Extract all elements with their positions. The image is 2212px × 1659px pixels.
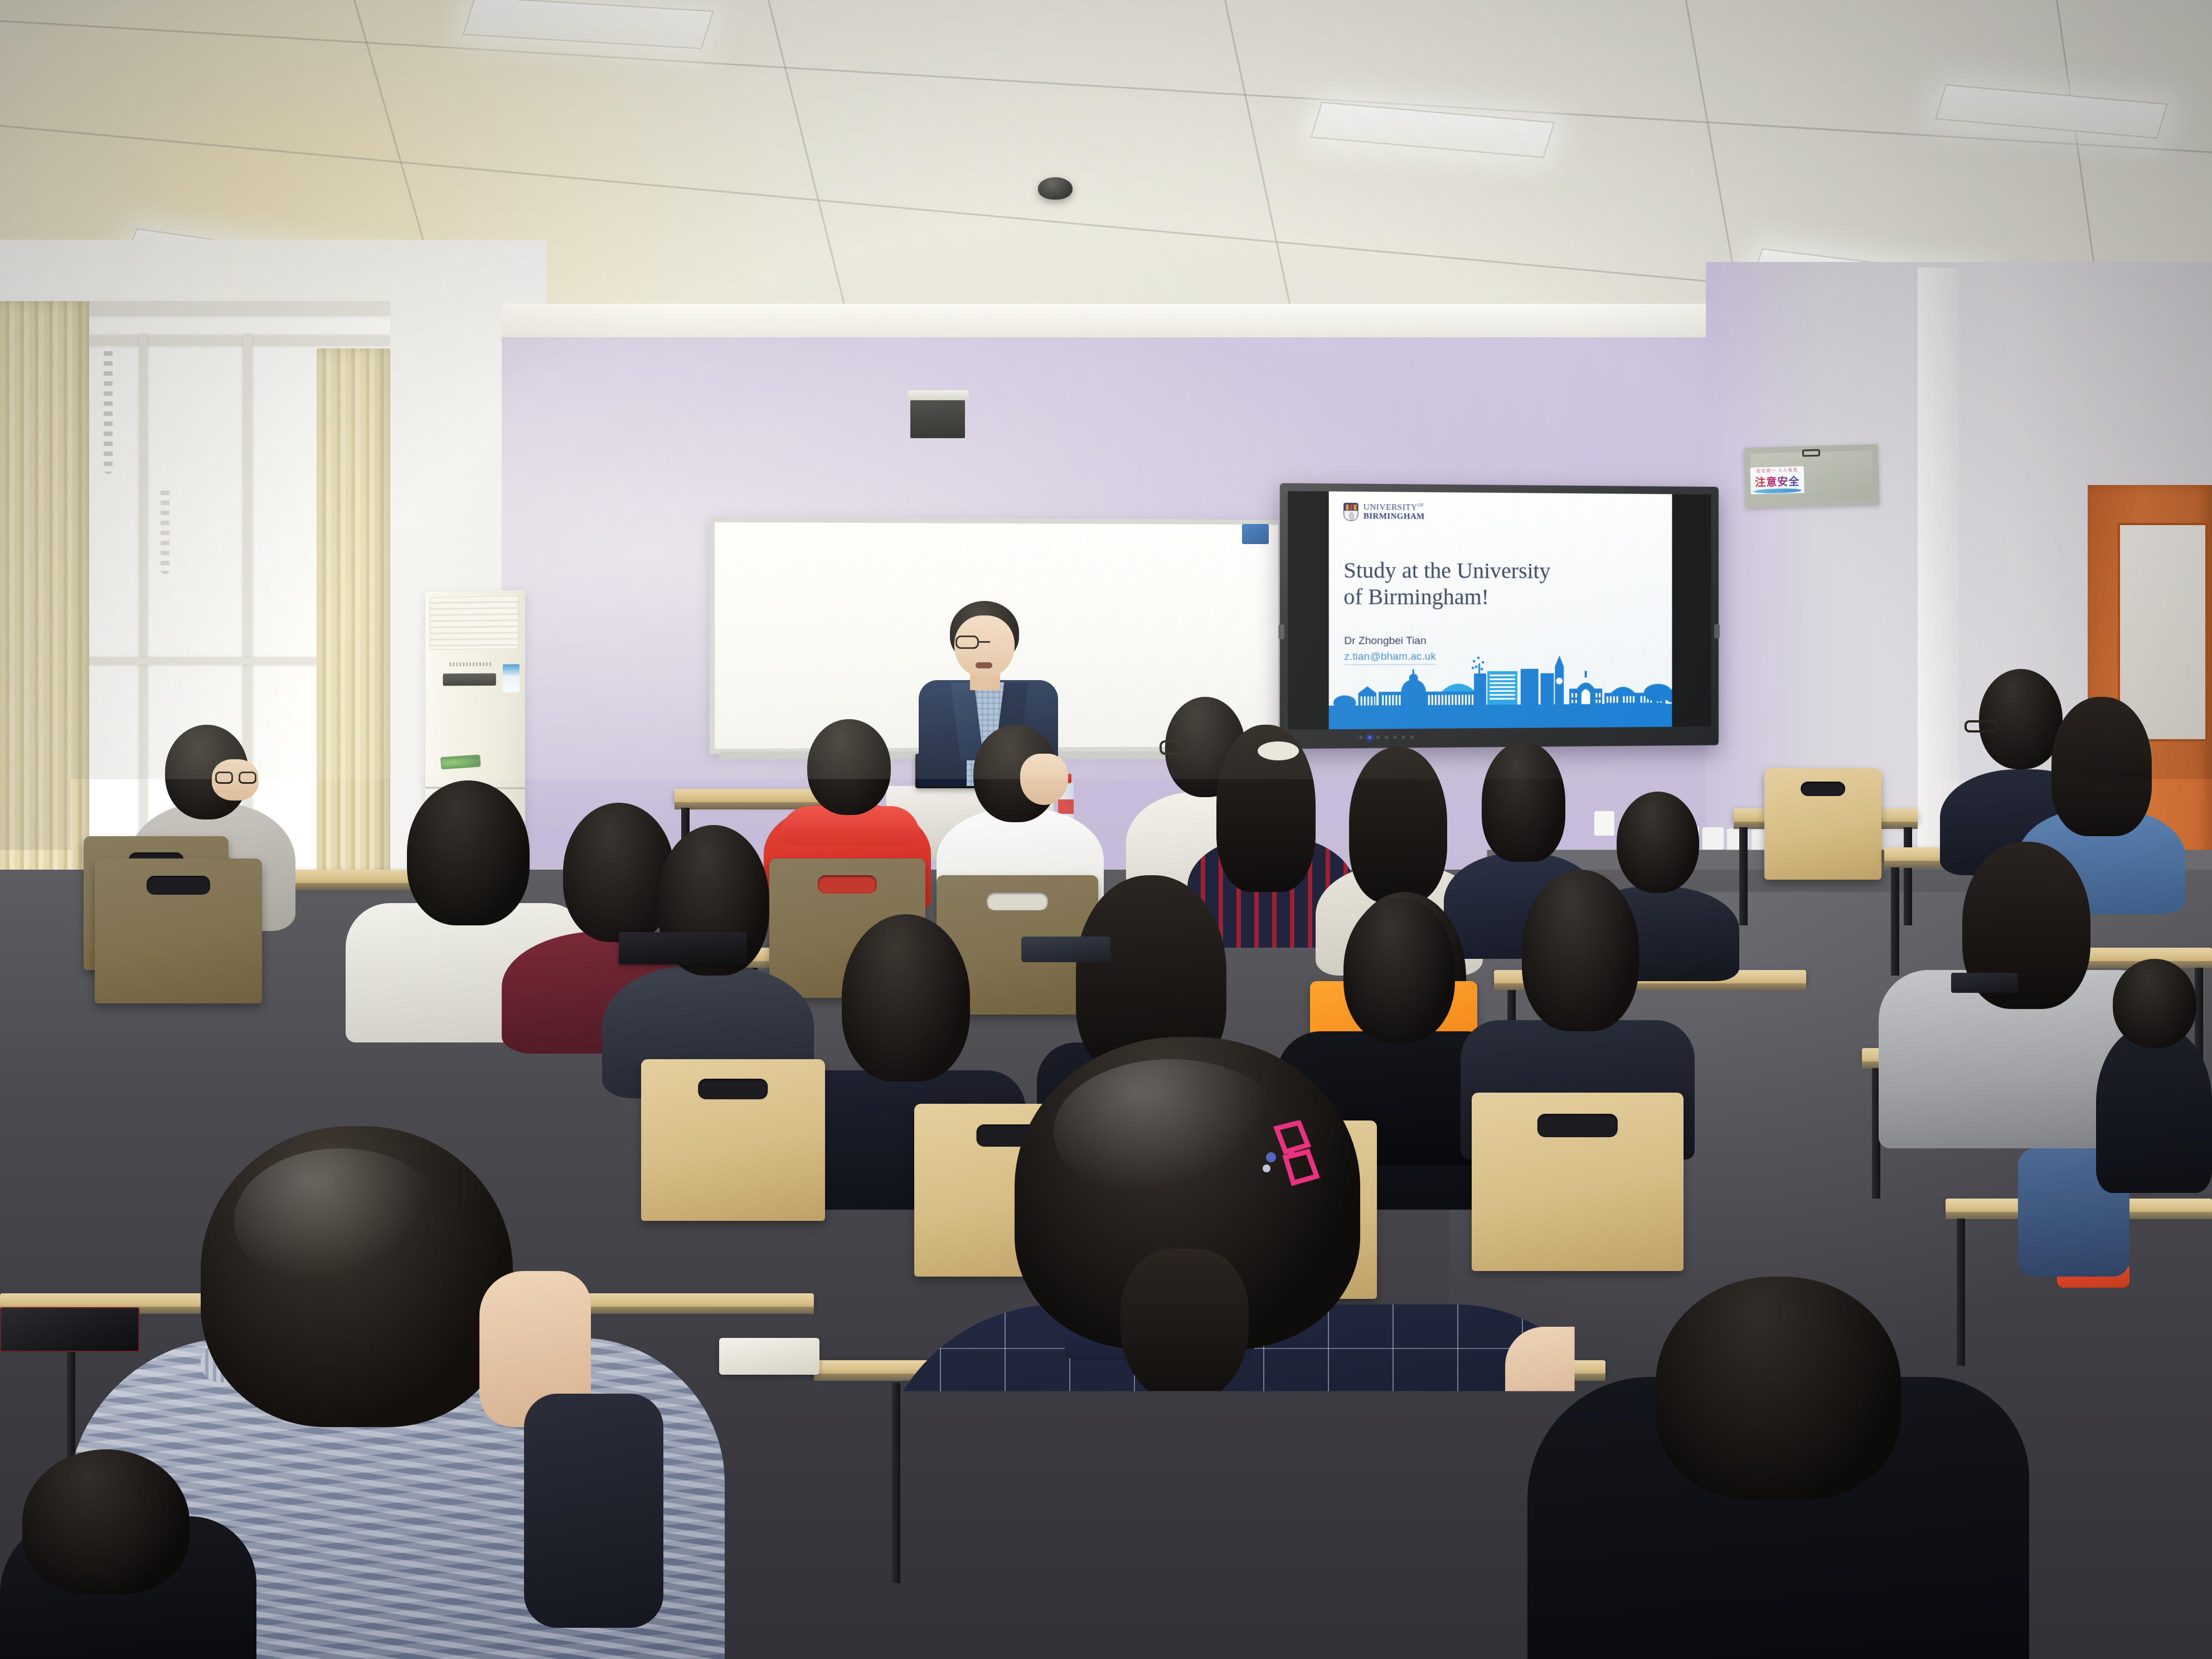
logo-line1-sup: OF (1418, 503, 1424, 508)
slide-title-line2: of Birmingham! (1343, 584, 1556, 610)
audience-member (831, 1037, 1622, 1659)
smoke-detector-icon (1038, 177, 1073, 200)
display-side-button-right[interactable] (1714, 624, 1720, 639)
sleeve (524, 1394, 663, 1628)
safety-sticker: 安全第一 人人有责 注意安全 (1750, 466, 1804, 494)
phone[interactable] (1951, 973, 2018, 993)
laptop[interactable] (619, 932, 747, 964)
wall-soffit (502, 304, 1739, 337)
audience-member (2096, 959, 2212, 1193)
classroom-photo-scene: UNIVERSITYOF BIRMINGHAM Study at the Uni… (0, 0, 2212, 1659)
presentation-display[interactable]: UNIVERSITYOF BIRMINGHAM Study at the Uni… (1280, 483, 1719, 749)
display-side-button-left[interactable] (1279, 624, 1284, 639)
whiteboard-badge (1242, 524, 1269, 544)
panel-latch-icon (1802, 449, 1820, 457)
slide-title-line1: Study at the University (1343, 557, 1556, 584)
ponytail (1120, 1249, 1249, 1405)
bag (1021, 937, 1110, 962)
logo-line1: UNIVERSITY (1364, 503, 1418, 512)
chair[interactable] (1764, 768, 1881, 880)
glasses-icon (1964, 720, 1998, 733)
safety-sticker-title: 注意安全 (1755, 473, 1800, 489)
audience-member (1527, 1277, 2029, 1659)
birmingham-skyline-graphic (1329, 644, 1672, 729)
wall-speaker-icon (908, 390, 969, 439)
chair[interactable] (95, 858, 262, 1003)
glasses-icon (955, 636, 1013, 649)
curtain-left (0, 301, 89, 892)
electrical-access-panel[interactable]: 安全第一 人人有责 注意安全 (1744, 444, 1880, 508)
glasses-icon (215, 772, 256, 784)
hair-bow-clip (1260, 1120, 1321, 1221)
tablet[interactable] (0, 1307, 139, 1352)
crest-icon (1343, 503, 1358, 521)
glasses-icon (1160, 740, 1191, 755)
slide-title: Study at the University of Birmingham! (1343, 557, 1556, 610)
university-logo: UNIVERSITYOF BIRMINGHAM (1343, 503, 1425, 521)
notebook[interactable] (719, 1338, 819, 1375)
logo-line2: BIRMINGHAM (1364, 512, 1425, 521)
display-indicator-leds (1360, 735, 1414, 739)
audience-member (0, 1449, 256, 1659)
slide-content: UNIVERSITYOF BIRMINGHAM Study at the Uni… (1329, 491, 1672, 729)
backpack (268, 858, 396, 920)
hair-bow (1258, 741, 1299, 760)
